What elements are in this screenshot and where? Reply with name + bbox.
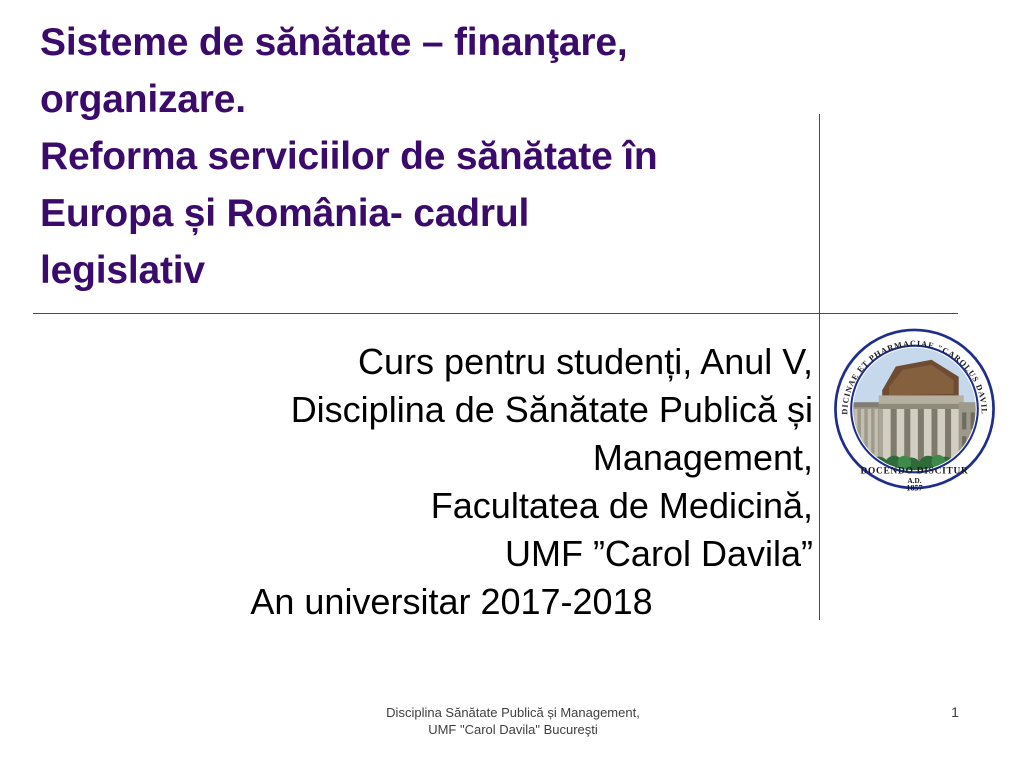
subtitle-line-5: UMF ”Carol Davila”: [90, 530, 813, 578]
title-line-2: organizare.: [40, 71, 820, 128]
title-line-3: Reforma serviciilor de sănătate în: [40, 128, 820, 185]
subtitle-line-1: Curs pentru studenți, Anul V,: [90, 338, 813, 386]
title-line-5: legislativ: [40, 242, 820, 299]
vertical-divider: [819, 114, 820, 620]
seal-founded-year: 1857: [906, 484, 922, 493]
slide-title: Sisteme de sănătate – finanţare, organiz…: [40, 14, 820, 299]
slide-subtitle: Curs pentru studenți, Anul V, Disciplina…: [90, 338, 813, 626]
subtitle-line-4: Facultatea de Medicină,: [90, 482, 813, 530]
footer-line-2: UMF "Carol Davila" Bucureşti: [313, 721, 713, 738]
presentation-slide: Sisteme de sănătate – finanţare, organiz…: [0, 0, 1024, 768]
subtitle-line-2: Disciplina de Sănătate Publică și: [90, 386, 813, 434]
title-line-1: Sisteme de sănătate – finanţare,: [40, 14, 820, 71]
footer-line-1: Disciplina Sănătate Publică și Managemen…: [313, 704, 713, 721]
title-line-4: Europa și România- cadrul: [40, 185, 820, 242]
page-number: 1: [930, 704, 980, 721]
umf-carol-davila-seal-icon: UNIVERSITAS MEDICINAE ET PHARMACIAE "CAR…: [829, 324, 1000, 494]
subtitle-line-6: An universitar 2017-2018: [90, 578, 813, 626]
subtitle-line-3: Management,: [90, 434, 813, 482]
seal-motto: DOCENDO DISCITUR: [860, 467, 968, 477]
slide-footer: Disciplina Sănătate Publică și Managemen…: [313, 704, 713, 738]
